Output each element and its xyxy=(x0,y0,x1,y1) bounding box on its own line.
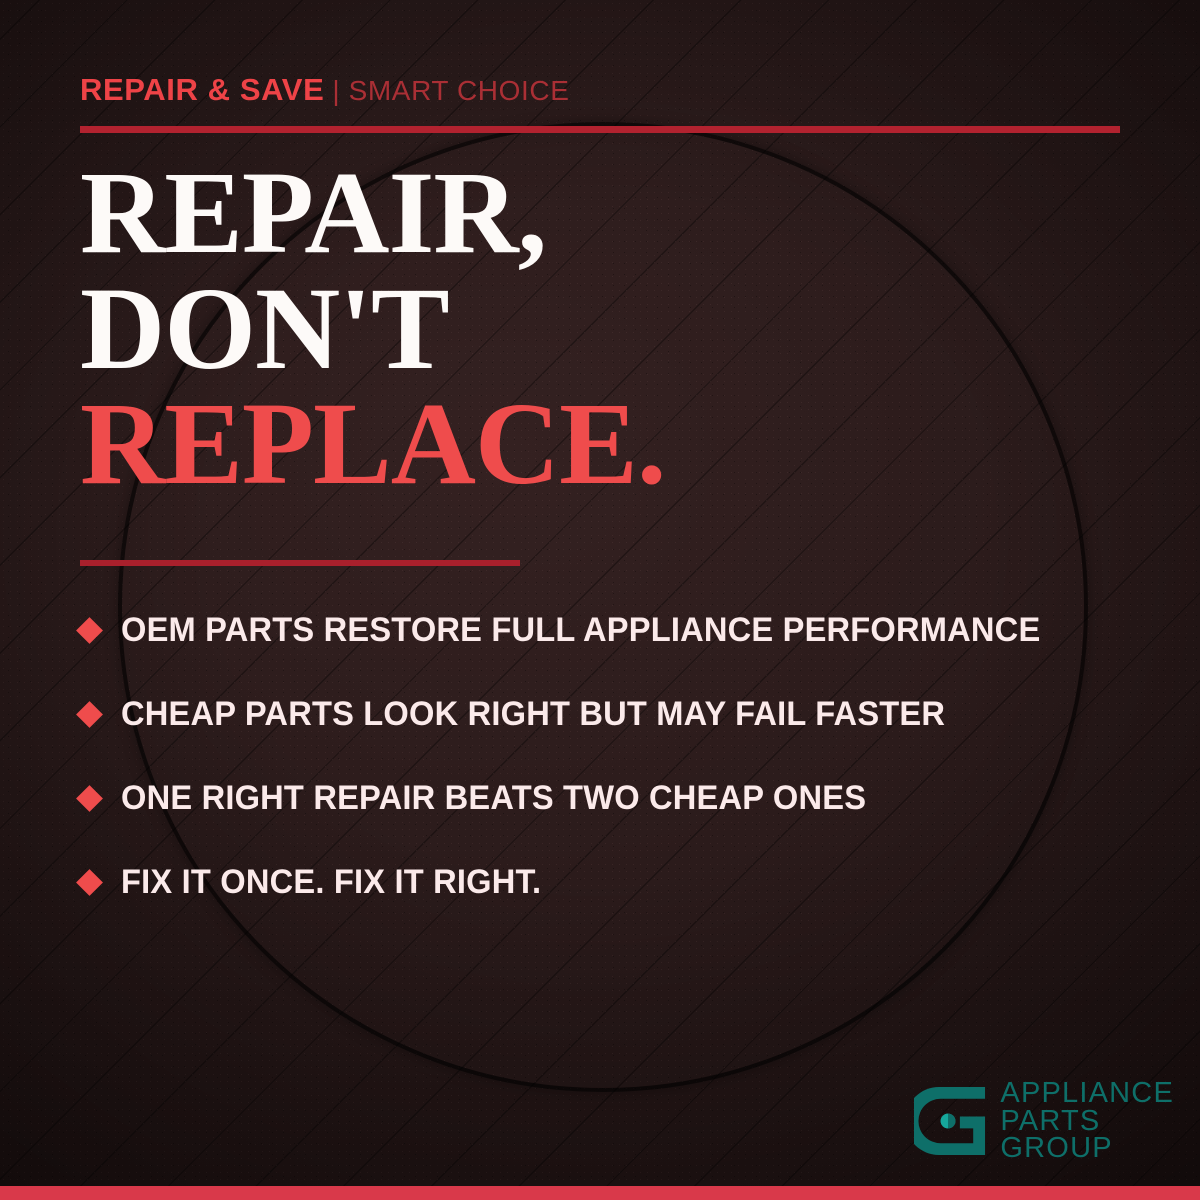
divider-mid xyxy=(80,560,520,566)
eyebrow: REPAIR & SAVE| SMART CHOICE xyxy=(80,74,569,105)
brand-wordmark: APPLIANCE PARTS GROUP xyxy=(1000,1080,1174,1162)
brand-logo: APPLIANCE PARTS GROUP xyxy=(914,1080,1174,1162)
benefits-list: OEM PARTS RESTORE FULL APPLIANCE PERFORM… xyxy=(80,588,1150,924)
diamond-bullet-icon xyxy=(76,701,103,728)
bottom-accent-bar xyxy=(0,1186,1200,1200)
divider-top xyxy=(80,126,1120,133)
list-item: OEM PARTS RESTORE FULL APPLIANCE PERFORM… xyxy=(80,588,1150,672)
eyebrow-secondary-label: | SMART CHOICE xyxy=(332,75,569,106)
diamond-bullet-icon xyxy=(76,785,103,812)
eyebrow-primary-label: REPAIR & SAVE xyxy=(80,72,324,107)
page-title: REPAIR, DON'T REPLACE. xyxy=(80,155,1140,502)
headline-line-3: REPLACE. xyxy=(80,386,1140,502)
brand-word-parts: PARTS xyxy=(1000,1108,1174,1135)
poster-canvas: REPAIR & SAVE| SMART CHOICE REPAIR, DON'… xyxy=(0,0,1200,1200)
diamond-bullet-icon xyxy=(76,869,103,896)
list-item: FIX IT ONCE. FIX IT RIGHT. xyxy=(80,840,1150,924)
list-item-label: ONE RIGHT REPAIR BEATS TWO CHEAP ONES xyxy=(121,779,866,818)
brand-word-appliance: APPLIANCE xyxy=(1000,1080,1174,1107)
list-item-label: FIX IT ONCE. FIX IT RIGHT. xyxy=(121,863,541,902)
diamond-bullet-icon xyxy=(76,617,103,644)
list-item-label: OEM PARTS RESTORE FULL APPLIANCE PERFORM… xyxy=(121,611,1040,650)
brand-word-group: GROUP xyxy=(1000,1135,1174,1162)
list-item: CHEAP PARTS LOOK RIGHT BUT MAY FAIL FAST… xyxy=(80,672,1150,756)
headline-line-2: DON'T xyxy=(80,263,449,394)
list-item: ONE RIGHT REPAIR BEATS TWO CHEAP ONES xyxy=(80,756,1150,840)
poster-content: REPAIR & SAVE| SMART CHOICE REPAIR, DON'… xyxy=(0,0,1200,1200)
headline-line-1: REPAIR, xyxy=(80,147,546,278)
list-item-label: CHEAP PARTS LOOK RIGHT BUT MAY FAIL FAST… xyxy=(121,695,945,734)
g-monogram-icon xyxy=(914,1084,988,1158)
